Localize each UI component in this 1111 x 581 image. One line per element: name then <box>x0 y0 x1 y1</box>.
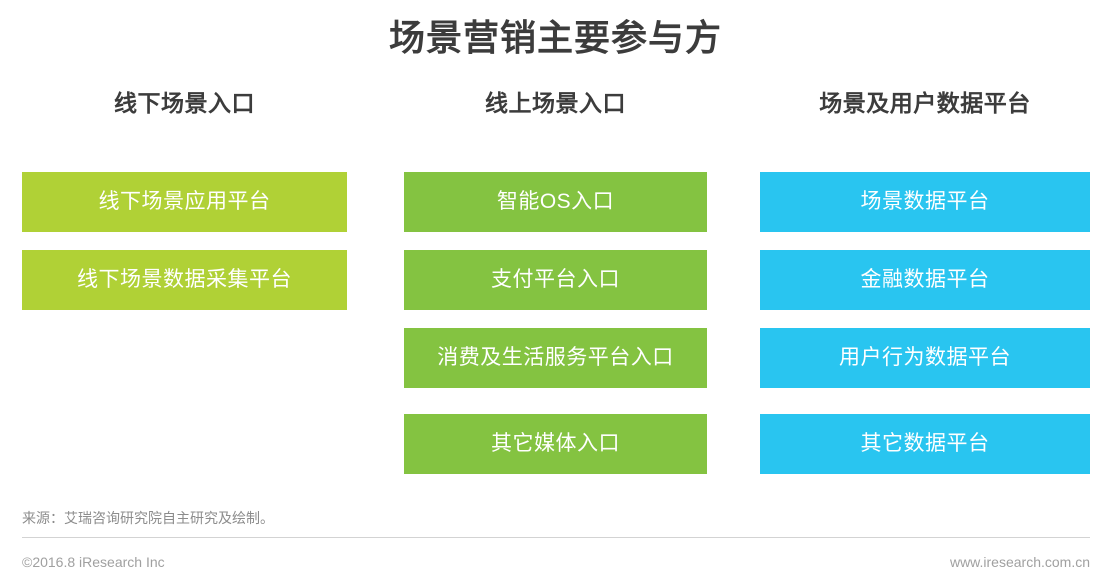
column-boxes-offline-scene-entrance: 线下场景应用平台 线下场景数据采集平台 <box>22 172 347 310</box>
box-other-media-entrance[interactable]: 其它媒体入口 <box>404 414 707 474</box>
footer-website: www.iresearch.com.cn <box>950 554 1090 570</box>
box-payment-platform-entrance[interactable]: 支付平台入口 <box>404 250 707 310</box>
box-offline-scene-data-collection-platform[interactable]: 线下场景数据采集平台 <box>22 250 347 310</box>
column-header-offline-scene-entrance: 线下场景入口 <box>22 86 347 120</box>
column-online-scene-entrance: 线上场景入口 智能OS入口 支付平台入口 消费及生活服务平台入口 其它媒体入口 <box>404 86 707 486</box>
slide-canvas: 场景营销主要参与方 线下场景入口 线下场景应用平台 线下场景数据采集平台 线上场… <box>0 0 1111 581</box>
box-smart-os-entrance[interactable]: 智能OS入口 <box>404 172 707 232</box>
box-finance-data-platform[interactable]: 金融数据平台 <box>760 250 1090 310</box>
column-header-online-scene-entrance: 线上场景入口 <box>404 86 707 120</box>
footer-divider <box>22 537 1090 538</box>
column-boxes-online-scene-entrance: 智能OS入口 支付平台入口 消费及生活服务平台入口 其它媒体入口 <box>404 172 707 474</box>
column-offline-scene-entrance: 线下场景入口 线下场景应用平台 线下场景数据采集平台 <box>22 86 347 486</box>
footer-copyright: ©2016.8 iResearch Inc <box>22 554 165 570</box>
box-other-data-platform[interactable]: 其它数据平台 <box>760 414 1090 474</box>
footer: ©2016.8 iResearch Inc www.iresearch.com.… <box>0 548 1111 581</box>
box-consumption-life-service-platform-entrance[interactable]: 消费及生活服务平台入口 <box>404 328 707 388</box>
page-title: 场景营销主要参与方 <box>0 14 1111 62</box>
source-note: 来源：艾瑞咨询研究院自主研究及绘制。 <box>22 508 274 528</box>
box-offline-scene-app-platform[interactable]: 线下场景应用平台 <box>22 172 347 232</box>
columns-container: 线下场景入口 线下场景应用平台 线下场景数据采集平台 线上场景入口 智能OS入口… <box>22 86 1090 486</box>
column-scene-user-data-platform: 场景及用户数据平台 场景数据平台 金融数据平台 用户行为数据平台 其它数据平台 <box>760 86 1090 486</box>
column-header-scene-user-data-platform: 场景及用户数据平台 <box>760 86 1090 120</box>
box-scene-data-platform[interactable]: 场景数据平台 <box>760 172 1090 232</box>
box-user-behavior-data-platform[interactable]: 用户行为数据平台 <box>760 328 1090 388</box>
column-boxes-scene-user-data-platform: 场景数据平台 金融数据平台 用户行为数据平台 其它数据平台 <box>760 172 1090 474</box>
